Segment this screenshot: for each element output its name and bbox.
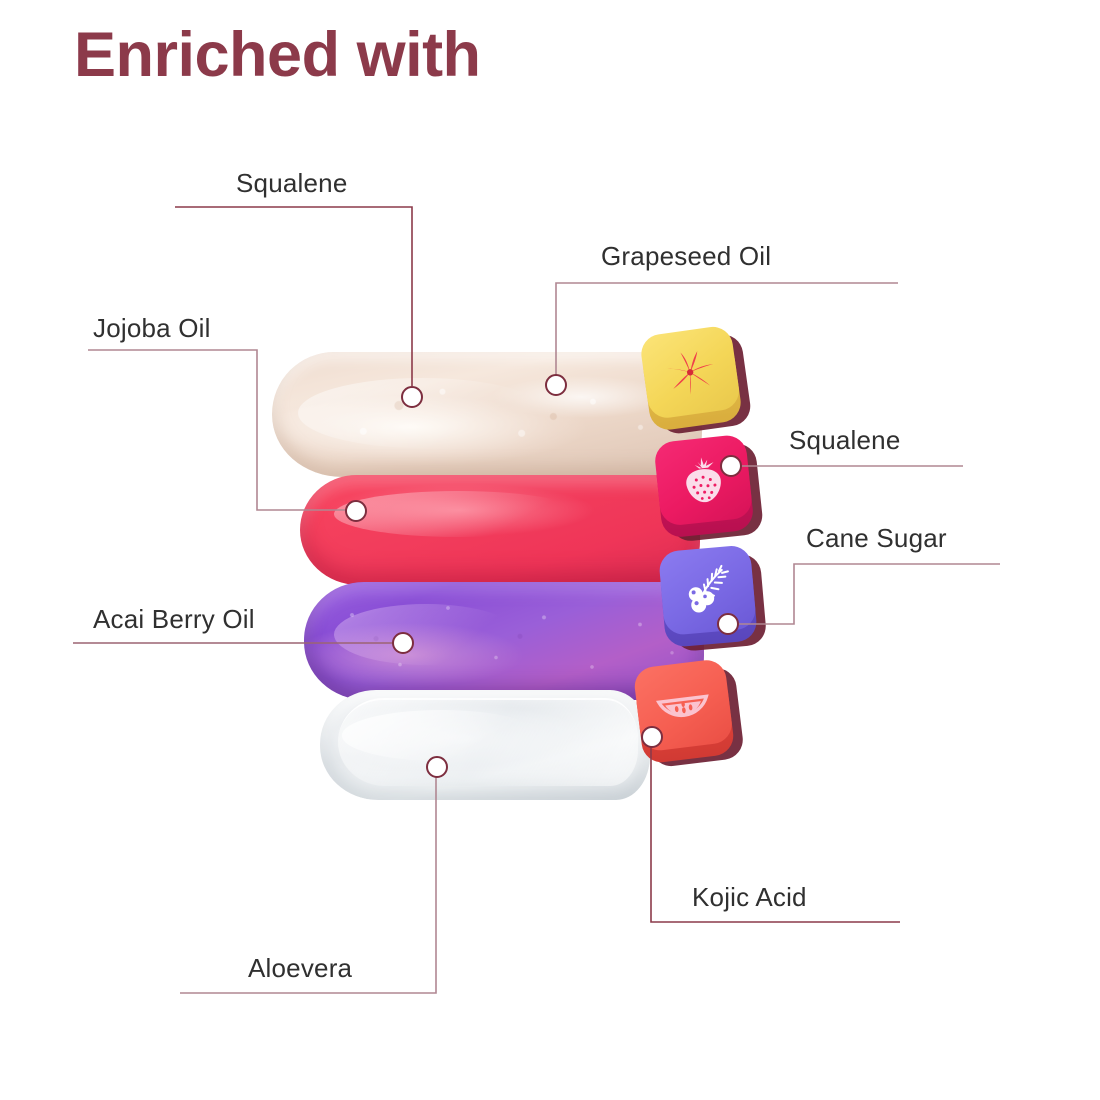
- callout-dot-kojic-acid: [641, 726, 663, 748]
- leader-grapeseed-oil: [556, 283, 898, 385]
- callout-dot-cane-sugar: [717, 613, 739, 635]
- label-aloevera: Aloevera: [248, 953, 352, 984]
- callout-dot-jojoba-oil: [345, 500, 367, 522]
- label-jojoba-oil: Jojoba Oil: [93, 313, 211, 344]
- leader-squalene-top: [175, 207, 412, 386]
- label-kojic-acid: Kojic Acid: [692, 882, 807, 913]
- label-squalene-top: Squalene: [236, 168, 347, 199]
- callout-dot-grapeseed-oil: [545, 374, 567, 396]
- label-grapeseed-oil: Grapeseed Oil: [601, 241, 771, 272]
- label-acai-berry-oil: Acai Berry Oil: [93, 604, 255, 635]
- leader-jojoba-oil: [88, 350, 352, 510]
- infographic-canvas: Enriched with: [0, 0, 1100, 1100]
- callout-dot-acai-berry-oil: [392, 632, 414, 654]
- leader-cane-sugar: [727, 564, 1000, 624]
- label-squalene-right: Squalene: [789, 425, 900, 456]
- callout-dot-squalene-top: [401, 386, 423, 408]
- callout-dot-aloevera: [426, 756, 448, 778]
- label-cane-sugar: Cane Sugar: [806, 523, 947, 554]
- callout-dot-squalene-right: [720, 455, 742, 477]
